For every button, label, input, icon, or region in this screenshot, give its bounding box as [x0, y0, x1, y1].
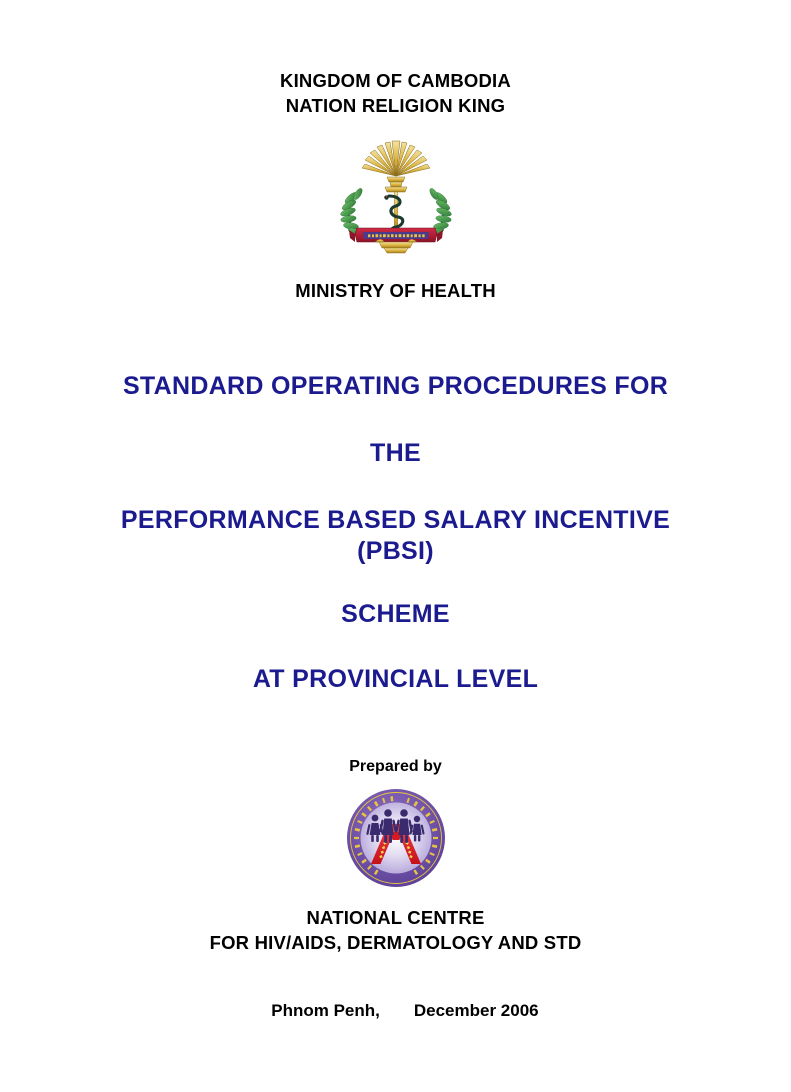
title-line-2: THE	[0, 439, 791, 468]
title-line-5: SCHEME	[0, 600, 791, 629]
royal-parasol-rays	[362, 141, 430, 192]
nchads-logo-container	[0, 788, 791, 892]
date-label: December 2006	[414, 1001, 539, 1020]
kingdom-header: KINGDOM OF CAMBODIA NATION RELIGION KING	[0, 68, 791, 118]
cambodia-ministry-of-health-emblem-icon	[321, 138, 471, 258]
centre-name-line1: NATIONAL CENTRE	[0, 906, 791, 930]
document-page: KINGDOM OF CAMBODIA NATION RELIGION KING	[0, 68, 791, 1092]
emblem-banner	[349, 228, 443, 242]
centre-name: NATIONAL CENTRE FOR HIV/AIDS, DERMATOLOG…	[0, 906, 791, 955]
kingdom-header-line2: NATION RELIGION KING	[0, 93, 791, 118]
ministry-title: MINISTRY OF HEALTH	[0, 280, 791, 302]
prepared-by-label: Prepared by	[0, 758, 791, 776]
place-and-date: Phnom Penh,December 2006	[0, 981, 791, 1041]
kingdom-header-line1: KINGDOM OF CAMBODIA	[0, 68, 791, 93]
title-line-4: (PBSI)	[0, 537, 791, 566]
nchads-logo-icon	[346, 788, 446, 888]
centre-name-line2: FOR HIV/AIDS, DERMATOLOGY AND STD	[0, 931, 791, 955]
coat-of-arms-container	[0, 138, 791, 258]
document-title-block: STANDARD OPERATING PROCEDURES FOR THE PE…	[0, 372, 791, 694]
title-line-1: STANDARD OPERATING PROCEDURES FOR	[0, 372, 791, 401]
place-label: Phnom Penh,	[271, 1001, 380, 1020]
title-line-3: PERFORMANCE BASED SALARY INCENTIVE	[0, 506, 791, 535]
title-line-6: AT PROVINCIAL LEVEL	[0, 665, 791, 694]
